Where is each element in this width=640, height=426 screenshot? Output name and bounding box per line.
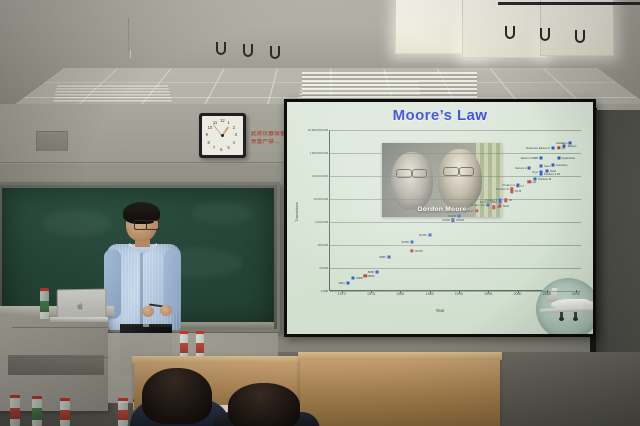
- chart-data-point: [539, 164, 542, 167]
- clock-face: 121234567891011: [202, 116, 243, 155]
- hanging-wire: [130, 50, 131, 58]
- chart-data-point: [534, 177, 537, 180]
- ceiling-hook: [540, 28, 550, 41]
- ceiling-tile: [159, 69, 225, 83]
- chart-gridline: [330, 153, 581, 154]
- water-bottle: [180, 331, 188, 359]
- bottle-body: [32, 399, 42, 426]
- chart-gridline: [330, 130, 581, 131]
- chart-point-label: Itanium 2 9MB: [521, 156, 538, 160]
- chart-data-point: [498, 204, 501, 207]
- chart-point-label: Xeon: [544, 164, 550, 168]
- presenter-hand-left: [142, 306, 154, 317]
- ceiling-louver-panel: [53, 85, 173, 103]
- clock-numeral: 4: [233, 141, 235, 145]
- chart-data-point: [387, 256, 390, 259]
- bottle-label: [32, 408, 42, 419]
- chart-point-label: 80186: [415, 249, 423, 253]
- chart-point-label: Pentium III: [496, 187, 509, 191]
- x-axis-tick-label: 2010: [572, 292, 580, 296]
- clock-numeral: 9: [206, 133, 208, 137]
- glasses-icon: [459, 167, 474, 176]
- water-bottle: [196, 331, 204, 359]
- chart-data-point: [516, 183, 519, 186]
- chart-point-label: Itanium 2: [515, 166, 526, 170]
- water-bottle: [32, 396, 42, 426]
- bottle-label: [40, 301, 49, 313]
- clock-numeral: 2: [233, 126, 235, 130]
- chart-point-label: 4004: [339, 281, 345, 285]
- chart-point-label: K7: [521, 184, 524, 188]
- ceiling-light-bright: [462, 0, 546, 58]
- chart-data-point: [539, 157, 542, 160]
- ceiling-hook: [505, 26, 515, 39]
- chart-point-label: Core Duo: [556, 163, 568, 167]
- chart-data-point: [545, 169, 548, 172]
- chart-point-label: 80486: [442, 218, 450, 222]
- audience-desk-top: [298, 352, 502, 360]
- x-axis-tick-label: 2000: [514, 292, 522, 296]
- y-axis-tick-label: 10,000,000,000: [308, 128, 328, 132]
- chart-point-label: Q3: [532, 180, 536, 184]
- chart-point-label: Dual: [550, 169, 556, 173]
- landing-gear-wheel: [559, 317, 564, 321]
- chart-data-point: [510, 187, 513, 190]
- water-bottle: [118, 398, 128, 426]
- clock-numeral: 3: [235, 133, 237, 137]
- audience-desk-top: [132, 356, 326, 364]
- chart-point-label: 500a: [503, 204, 509, 208]
- chart-point-label: 80386: [419, 233, 427, 237]
- bottle-label: [180, 343, 188, 354]
- ceiling-hook: [243, 44, 253, 57]
- clock-numeral: 6: [220, 148, 222, 152]
- chart-point-label: 80286: [401, 240, 409, 244]
- chart-gridline: [330, 245, 581, 246]
- classroom-photo: 121234567891011 此类仪器设备 贵重严禁… Moore’s Law…: [0, 0, 640, 426]
- shirt-placket: [140, 253, 143, 327]
- chart-point-label: K6: [509, 198, 512, 202]
- clock-numeral: 12: [220, 119, 225, 123]
- audience-head: [142, 368, 212, 424]
- chart-data-point: [539, 170, 542, 173]
- moores-law-chart: Transistors Gordon Moore: [295, 128, 585, 310]
- audience-desk: [300, 356, 500, 426]
- clock-numeral: 11: [213, 121, 217, 125]
- projection-screen: Moore’s Law Transistors Gordon Moore: [287, 102, 593, 334]
- y-axis-tick-label: 1,000,000,000: [310, 151, 329, 155]
- clock-center-hub: [221, 134, 224, 137]
- bottle-body: [40, 291, 49, 319]
- chart-gridline: [330, 268, 581, 269]
- ceiling-hook-rail: [498, 2, 640, 5]
- x-axis-label: Year: [436, 308, 445, 313]
- y-axis-tick-label: 1,000,000: [315, 220, 328, 224]
- chart-data-point: [475, 209, 478, 212]
- ceiling-tile: [216, 69, 278, 83]
- chart-point-label: K6-III: [515, 189, 521, 193]
- chart-data-point: [410, 249, 413, 252]
- chart-point-label: Nehalem: [556, 141, 567, 145]
- slide-title: Moore’s Law: [287, 107, 593, 124]
- bottle-label: [10, 408, 20, 420]
- chart-point-label: Pentium M: [538, 177, 551, 181]
- ceiling-tile: [208, 82, 275, 98]
- x-axis-tick-label: 1975: [367, 292, 375, 296]
- bottle-label: [60, 410, 70, 421]
- y-axis-tick-label: 100,000,000: [312, 174, 328, 178]
- chart-data-point: [428, 233, 431, 236]
- chart-point-label: Pentium: [464, 209, 474, 213]
- chart-point-label: Dual-Core Itanium 2: [526, 146, 550, 150]
- landing-gear-wheel: [573, 317, 578, 321]
- chart-point-label: 8085: [368, 270, 374, 274]
- chart-data-point: [569, 142, 572, 145]
- chart-gridline: [330, 199, 581, 200]
- side-door[interactable]: [596, 110, 640, 354]
- photo-caption: Gordon Moore: [382, 206, 502, 213]
- y-axis-tick-label: 100,000: [318, 243, 328, 247]
- chart-data-point: [346, 281, 349, 284]
- podium-seam: [12, 327, 108, 328]
- chart-data-point: [557, 157, 560, 160]
- apple-logo-icon: [77, 302, 84, 310]
- chalk-smudge: [42, 210, 112, 236]
- chart-point-label: Pentium II: [485, 198, 497, 202]
- podium-shelf: [8, 355, 104, 375]
- x-axis-tick-label: 1980: [396, 292, 404, 296]
- chart-data-point: [492, 206, 495, 209]
- clock-numeral: 5: [227, 146, 229, 150]
- chart-point-label: 8086: [380, 255, 386, 259]
- portrait-left: [391, 152, 433, 210]
- chart-data-point: [452, 219, 455, 222]
- hanging-wire: [128, 18, 129, 52]
- chart-point-label: 80488: [448, 214, 456, 218]
- wall-vent: [36, 131, 68, 151]
- y-axis-tick-label: 10,000: [319, 266, 328, 270]
- chart-data-point: [375, 271, 378, 274]
- chart-data-point: [551, 146, 554, 149]
- y-axis-tick-label: 10,000,000: [314, 197, 328, 201]
- chart-data-point: [487, 203, 490, 206]
- chart-plot-area: Gordon Moore 1,00010,000100,0001,000,000…: [329, 130, 581, 291]
- bottle-body: [60, 401, 70, 426]
- projection-screen-frame: Moore’s Law Transistors Gordon Moore: [284, 99, 596, 337]
- plane-wing: [540, 307, 593, 313]
- chart-data-point: [551, 164, 554, 167]
- chart-data-point: [528, 167, 531, 170]
- y-axis-tick-label: 1,000: [321, 289, 328, 293]
- audience-head: [228, 383, 300, 426]
- clock-numeral: 8: [208, 141, 210, 145]
- ceiling-light-bright: [540, 0, 614, 56]
- chart-data-point: [528, 180, 531, 183]
- x-axis-tick-label: 1985: [426, 292, 434, 296]
- portrait-right: [438, 149, 482, 209]
- chart-data-point: [411, 241, 414, 244]
- water-bottle: [60, 398, 70, 426]
- chart-data-point: [498, 198, 501, 201]
- water-bottle: [10, 395, 20, 426]
- x-axis-tick-label: 1990: [455, 292, 463, 296]
- chart-point-label: 8008: [356, 276, 362, 280]
- clock-numeral: 7: [213, 146, 215, 150]
- ceiling-hook: [270, 46, 280, 59]
- chalk-smudge: [192, 202, 252, 224]
- presenter-hand-right: [160, 305, 172, 316]
- clock-numeral: 1: [227, 121, 229, 125]
- chart-data-point: [504, 199, 507, 202]
- y-axis-label: Transistors: [294, 202, 299, 222]
- water-bottle: [40, 288, 49, 319]
- chart-point-label: Kryo: [532, 170, 538, 174]
- glasses-icon: [443, 167, 459, 176]
- eyeglasses-icon: [146, 220, 159, 230]
- chart-data-point: [557, 146, 560, 149]
- airplane-photo: [536, 278, 593, 334]
- chart-point-label: Quad-Core: [562, 156, 576, 160]
- wall-clock: 121234567891011: [199, 113, 246, 158]
- chart-point-label: i80486: [456, 218, 464, 222]
- chart-data-point: [352, 277, 355, 280]
- bottle-body: [118, 401, 128, 426]
- laptop-base: [50, 317, 108, 322]
- chart-data-point: [457, 214, 460, 217]
- bottle-body: [10, 398, 20, 426]
- clock-numeral: 10: [208, 126, 213, 130]
- x-axis-tick-label: 1970: [338, 292, 346, 296]
- ceiling-hook: [575, 30, 585, 43]
- ceiling-hook: [216, 42, 226, 55]
- x-axis-tick-label: 2005: [543, 292, 551, 296]
- chart-point-label: 8080: [368, 274, 374, 278]
- chart-point-label: Pentium 4: [502, 183, 514, 187]
- x-axis-tick-label: 1995: [484, 292, 492, 296]
- bottle-label: [196, 343, 204, 354]
- chart-data-point: [363, 274, 366, 277]
- bottle-label: [118, 410, 128, 421]
